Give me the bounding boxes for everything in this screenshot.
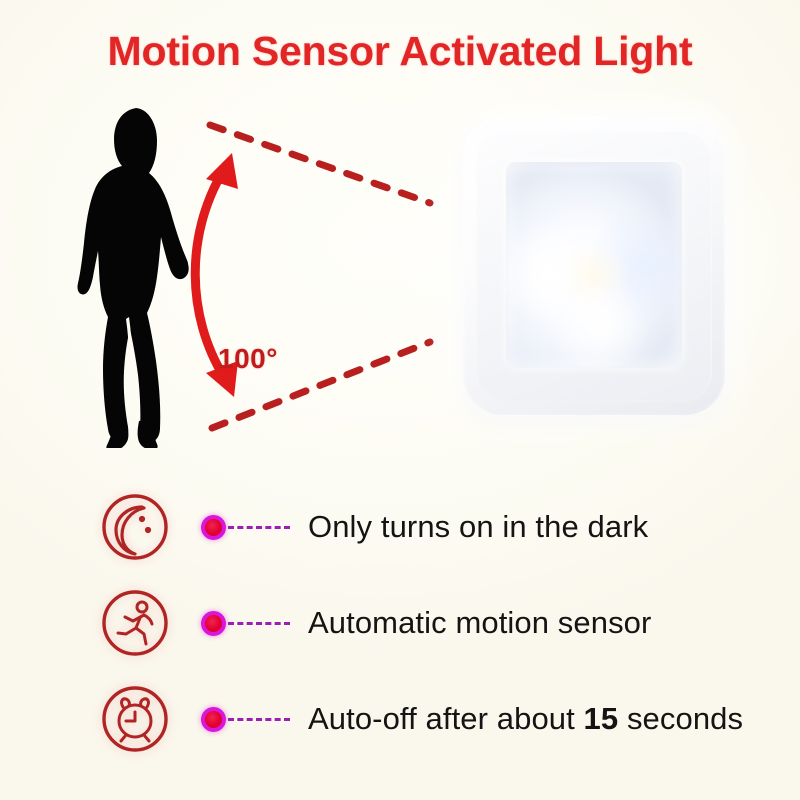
bullet-connector-dash (228, 526, 290, 529)
feature-text: Auto-off after about 15 seconds (308, 698, 743, 740)
page-title: Motion Sensor Activated Light (0, 26, 800, 76)
detection-cone-diagram (180, 95, 460, 455)
feature-text: Automatic motion sensor (308, 602, 651, 644)
feature-list: Only turns on in the dark Automatic moti… (0, 478, 800, 778)
bullet-dot (201, 611, 226, 636)
cone-upper-dashed-line (210, 125, 430, 203)
alarm-clock-icon (100, 684, 170, 754)
feature-text-main: Only turns on in the dark (308, 509, 648, 544)
light-glow-bottom (541, 286, 657, 368)
feature-text: Only turns on in the dark (308, 506, 648, 548)
feature-text-prefix: Auto-off after about (308, 701, 584, 736)
feature-text-highlight: 15 (584, 701, 619, 736)
light-glow-center (559, 240, 629, 312)
light-glow-left (506, 220, 598, 327)
product-infographic: Motion Sensor Activated Light 100° (0, 0, 800, 800)
bullet-dot (201, 707, 226, 732)
list-item: Auto-off after about 15 seconds (0, 670, 800, 766)
list-item: Only turns on in the dark (0, 478, 800, 574)
feature-text-suffix: seconds (618, 701, 743, 736)
light-glow-right (590, 203, 682, 331)
running-person-icon (100, 588, 170, 658)
hero-illustration: 100° (0, 95, 800, 455)
bullet-connector-dash (228, 622, 290, 625)
detection-angle-label: 100° (218, 343, 278, 375)
bullet-dot (201, 515, 226, 540)
list-item: Automatic motion sensor (0, 574, 800, 670)
light-housing (463, 117, 725, 415)
crescent-moon-stars-icon (100, 492, 170, 562)
light-bevel (476, 130, 712, 402)
feature-text-main: Automatic motion sensor (308, 605, 651, 640)
night-light-product (463, 117, 725, 415)
bullet-connector-dash (228, 718, 290, 721)
light-diffuser-panel (506, 162, 682, 368)
arc-arrow-head-top (206, 153, 238, 189)
